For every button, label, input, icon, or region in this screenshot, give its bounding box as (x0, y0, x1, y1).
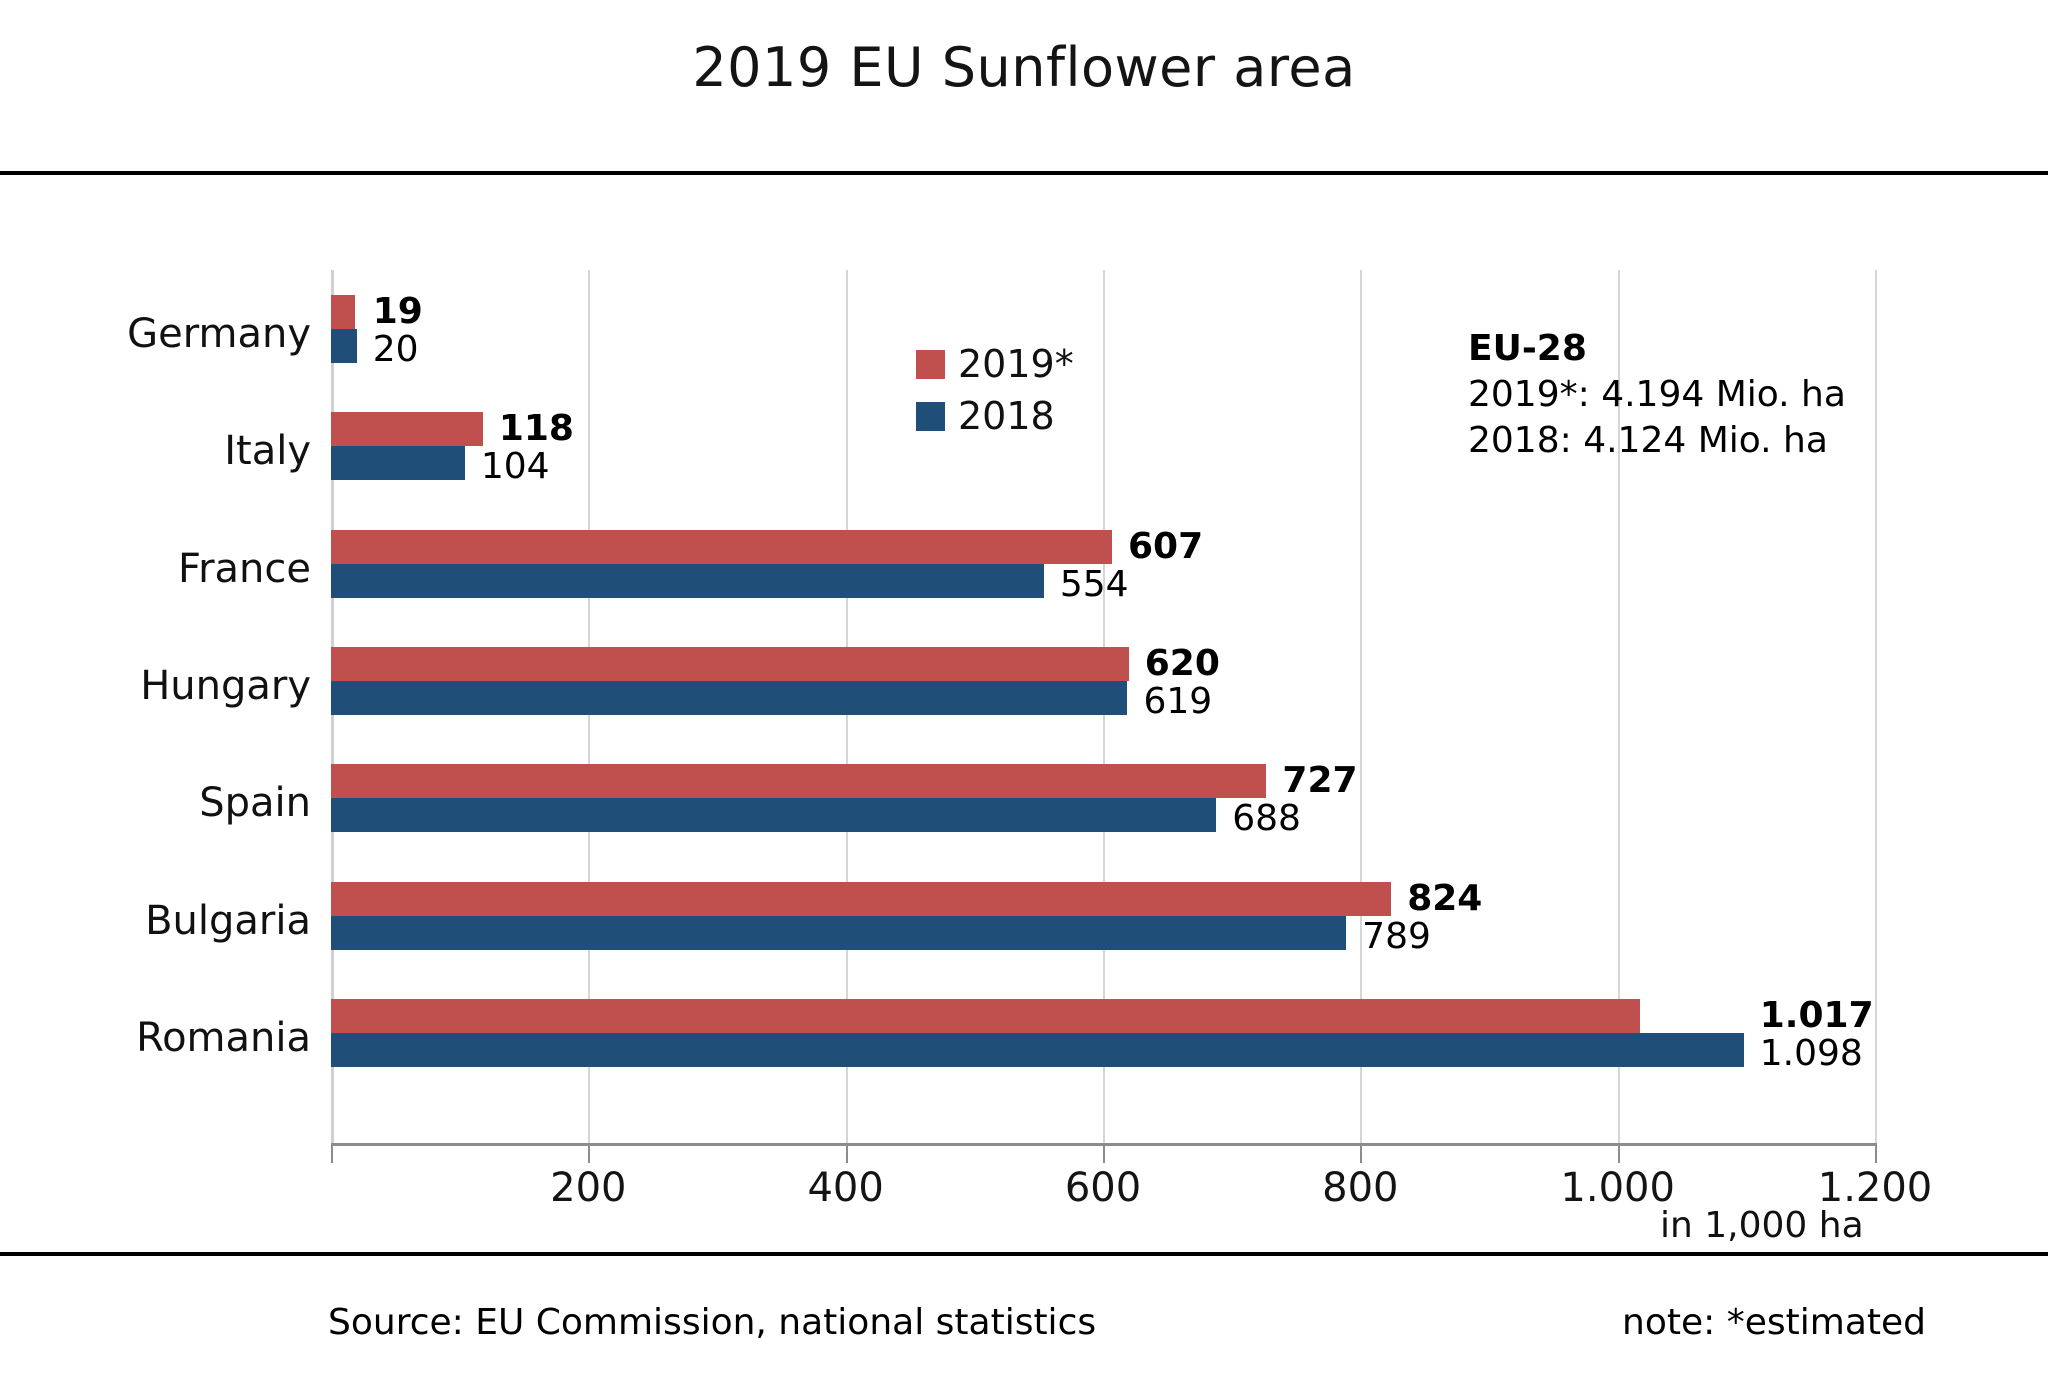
legend-item-2018[interactable]: 2018 (916, 390, 1074, 442)
tick-mark-400 (846, 1143, 848, 1163)
bar-2018-bulgaria[interactable] (331, 916, 1346, 950)
tick-mark-200 (588, 1143, 590, 1163)
category-row: Hungary620619 (0, 647, 2048, 719)
tick-mark-800 (1360, 1143, 1362, 1163)
bar-2019-italy[interactable] (331, 412, 483, 446)
bar-2019-bulgaria[interactable] (331, 882, 1391, 916)
bar-2018-germany[interactable] (331, 329, 357, 363)
tick-label-800: 800 (1322, 1165, 1398, 1211)
tick-label-1000: 1.000 (1560, 1165, 1675, 1211)
tick-mark-600 (1103, 1143, 1105, 1163)
tick-label-400: 400 (807, 1165, 883, 1211)
value-label-2018-france: 554 (1060, 567, 1129, 603)
value-label-2018-hungary: 619 (1143, 684, 1212, 720)
legend-label-2018: 2018 (958, 394, 1055, 438)
value-label-2019-romania: 1.017 (1760, 998, 1874, 1034)
eu28-annotation: EU-28 2019*: 4.194 Mio. ha 2018: 4.124 M… (1468, 326, 1846, 464)
value-label-2019-italy: 118 (499, 411, 574, 447)
value-label-2018-spain: 688 (1232, 801, 1301, 837)
category-label-italy: Italy (0, 428, 311, 474)
axis-unit-label: in 1,000 ha (1660, 1205, 1864, 1246)
category-label-bulgaria: Bulgaria (0, 898, 311, 944)
value-label-2019-hungary: 620 (1145, 646, 1220, 682)
category-label-hungary: Hungary (0, 663, 311, 709)
bar-2018-spain[interactable] (331, 798, 1216, 832)
tick-mark-0 (331, 1143, 333, 1163)
footer-divider (0, 1252, 2048, 1256)
page-title: 2019 EU Sunflower area (0, 36, 2048, 99)
value-label-2019-spain: 727 (1282, 763, 1357, 799)
bar-2018-italy[interactable] (331, 446, 465, 480)
header-divider (0, 171, 2048, 175)
category-label-romania: Romania (0, 1015, 311, 1061)
tick-label-600: 600 (1065, 1165, 1141, 1211)
eu28-value-2018: 2018: 4.124 Mio. ha (1468, 418, 1846, 464)
value-label-2018-italy: 104 (481, 449, 550, 485)
eu28-value-2019: 2019*: 4.194 Mio. ha (1468, 372, 1846, 418)
category-row: Spain727688 (0, 764, 2048, 836)
value-label-2019-bulgaria: 824 (1407, 881, 1482, 917)
tick-mark-1200 (1875, 1143, 1877, 1163)
chart-legend: 2019* 2018 (916, 338, 1074, 442)
legend-swatch-2018-icon (916, 402, 945, 431)
footer-source-text: Source: EU Commission, national statisti… (328, 1302, 1096, 1343)
category-row: France607554 (0, 530, 2048, 602)
bar-2019-germany[interactable] (331, 295, 355, 329)
bar-2018-hungary[interactable] (331, 681, 1127, 715)
legend-label-2019: 2019* (958, 342, 1074, 386)
value-label-2019-germany: 19 (373, 294, 423, 330)
value-label-2018-germany: 20 (373, 332, 419, 368)
value-label-2019-france: 607 (1128, 529, 1203, 565)
legend-swatch-2019-icon (916, 350, 945, 379)
bar-2019-spain[interactable] (331, 764, 1266, 798)
bar-2019-france[interactable] (331, 530, 1112, 564)
footer-note-text: note: *estimated (1622, 1302, 1926, 1343)
tick-mark-1000 (1618, 1143, 1620, 1163)
category-row: Romania1.0171.098 (0, 999, 2048, 1071)
category-row: Bulgaria824789 (0, 882, 2048, 954)
value-label-2018-romania: 1.098 (1760, 1036, 1863, 1072)
category-label-germany: Germany (0, 311, 311, 357)
category-label-spain: Spain (0, 780, 311, 826)
value-label-2018-bulgaria: 789 (1362, 919, 1431, 955)
bar-2018-france[interactable] (331, 564, 1044, 598)
bar-2019-hungary[interactable] (331, 647, 1129, 681)
bar-2019-romania[interactable] (331, 999, 1640, 1033)
bar-2018-romania[interactable] (331, 1033, 1744, 1067)
category-label-france: France (0, 546, 311, 592)
tick-label-200: 200 (550, 1165, 626, 1211)
eu28-title: EU-28 (1468, 326, 1846, 372)
legend-item-2019[interactable]: 2019* (916, 338, 1074, 390)
